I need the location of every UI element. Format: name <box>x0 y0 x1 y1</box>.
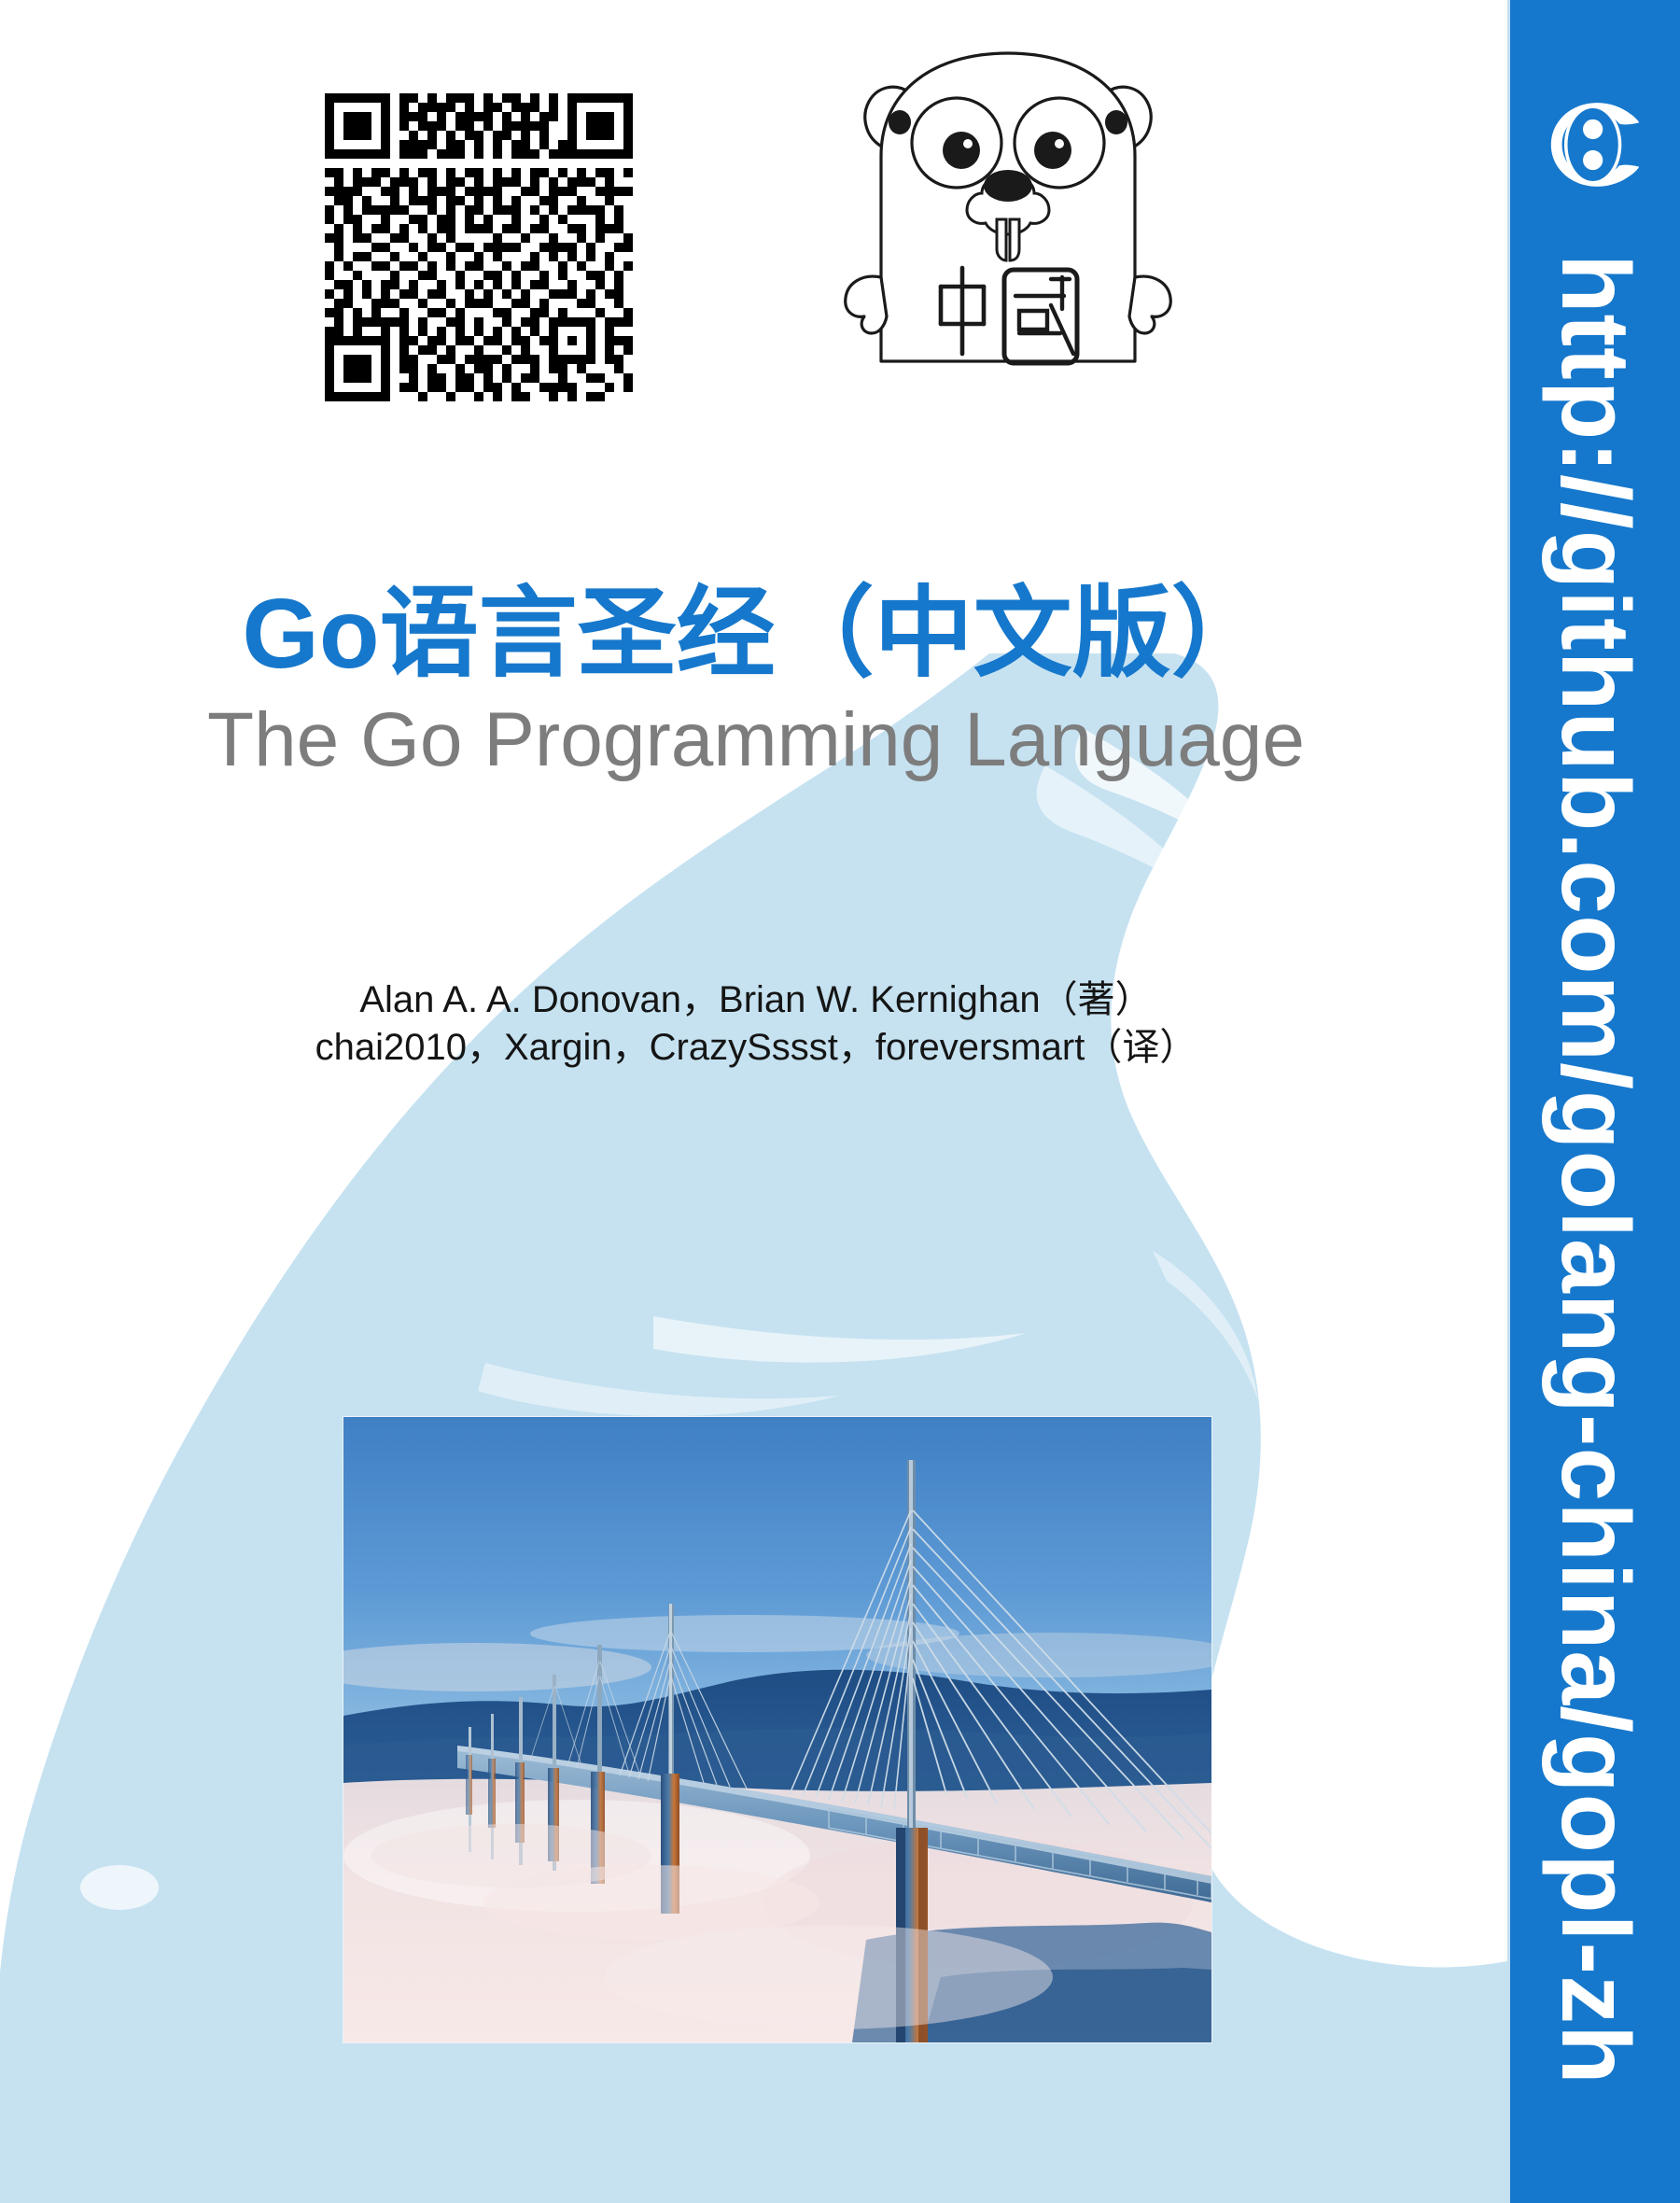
github-cat-icon <box>1540 90 1650 200</box>
millau-viaduct-bridge-photo <box>343 1417 1211 2042</box>
github-cat-icon-svg <box>1540 90 1650 200</box>
page-title-chinese: Go语言圣经（中文版） <box>0 579 1512 690</box>
go-gopher-mascot <box>840 33 1176 369</box>
book-cover: Go语言圣经（中文版） The Go Programming Language … <box>0 0 1680 2203</box>
authors-translators: chai2010，Xargin，CrazySssst，foreversmart（… <box>0 1024 1512 1072</box>
qr-code <box>325 93 633 401</box>
title-block: Go语言圣经（中文版） The Go Programming Language <box>0 579 1512 785</box>
authors-block: Alan A. A. Donovan，Brian W. Kernighan（著）… <box>0 976 1512 1072</box>
bridge-photo-svg <box>343 1417 1211 2042</box>
qr-code-svg <box>325 93 633 401</box>
github-sidebar[interactable]: http://github.com/golang-china/gopl-zh <box>1507 0 1680 2203</box>
github-url-text[interactable]: http://github.com/golang-china/gopl-zh <box>1510 254 1680 2102</box>
authors-original: Alan A. A. Donovan，Brian W. Kernighan（著） <box>0 976 1512 1024</box>
page-subtitle-english: The Go Programming Language <box>0 695 1512 786</box>
gopher-svg <box>840 33 1176 369</box>
